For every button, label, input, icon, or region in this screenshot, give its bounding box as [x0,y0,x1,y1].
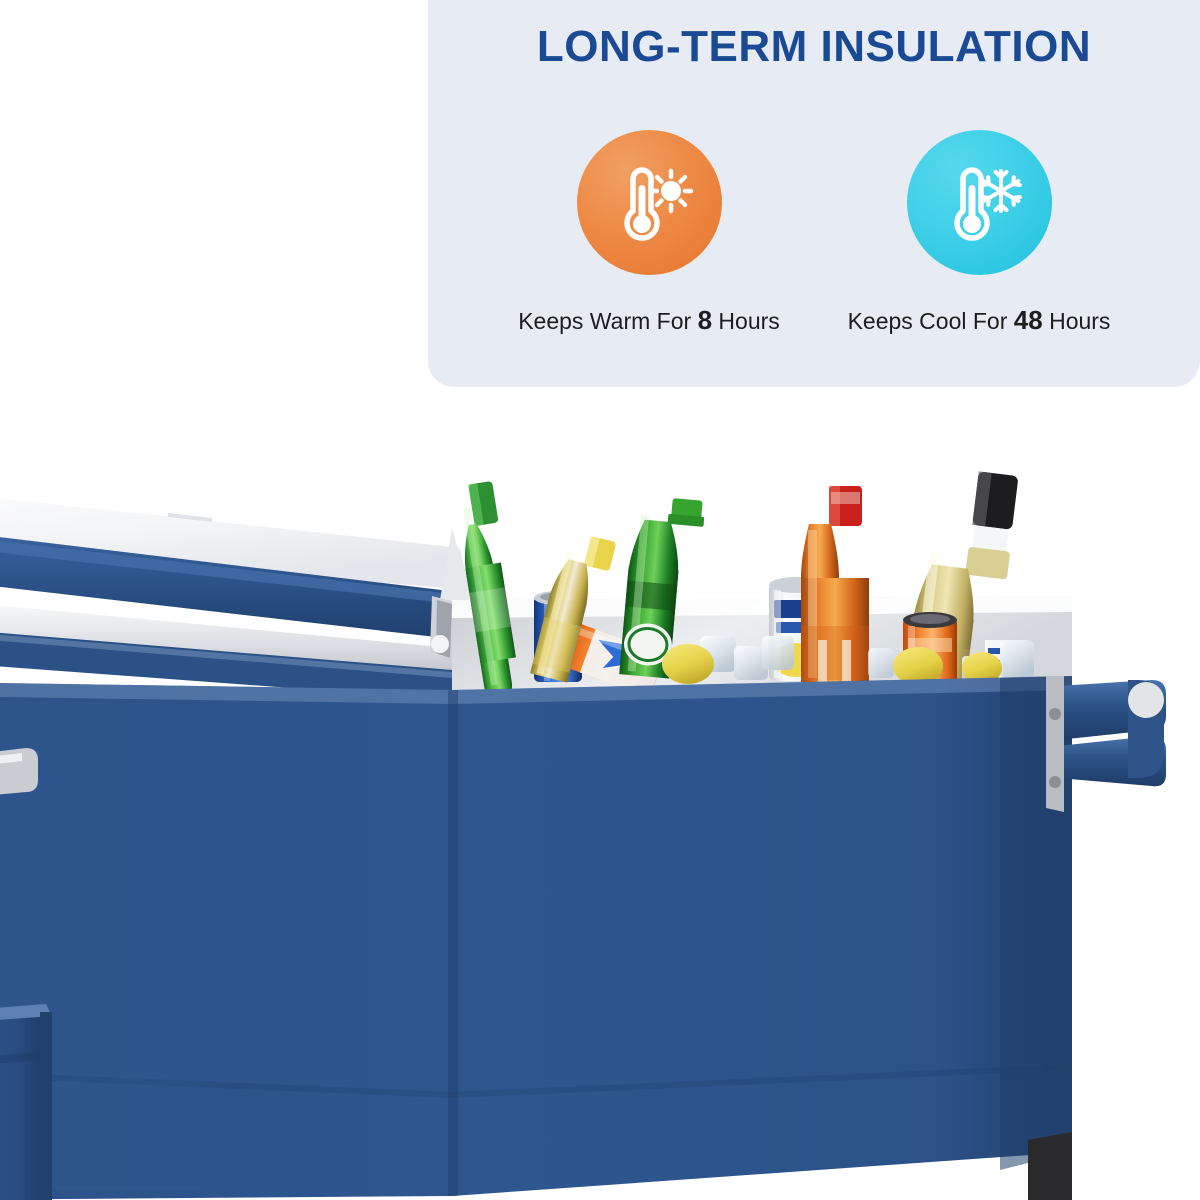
cooler-contents [453,466,1034,705]
side-shelf-left [0,1004,52,1200]
caption-prefix-cool: Keeps Cool For [848,308,1014,334]
page-title: LONG-TERM INSULATION [428,22,1200,72]
feature-list: Keeps Warm For 8 Hours [428,130,1200,336]
thermometer-snowflake-icon [907,130,1052,275]
feature-keeps-cool: Keeps Cool For 48 Hours [814,130,1144,336]
insulation-info-panel: LONG-TERM INSULATION [428,0,1200,387]
caption-suffix-warm: Hours [712,308,780,334]
cooler-body [0,676,1072,1200]
amber-liquor-bottle [801,486,869,682]
feature-caption-warm: Keeps Warm For 8 Hours [518,305,780,336]
caption-prefix-warm: Keeps Warm For [518,308,697,334]
feature-caption-cool: Keeps Cool For 48 Hours [848,305,1111,336]
side-handle-left [0,748,38,798]
thermometer-sun-icon [577,130,722,275]
side-handle-right [1046,676,1166,812]
caption-value-warm: 8 [698,305,712,335]
feature-keeps-warm: Keeps Warm For 8 Hours [484,130,814,336]
cooler-leg-right [1028,1132,1072,1200]
caption-value-cool: 48 [1014,305,1043,335]
caption-suffix-cool: Hours [1043,308,1111,334]
